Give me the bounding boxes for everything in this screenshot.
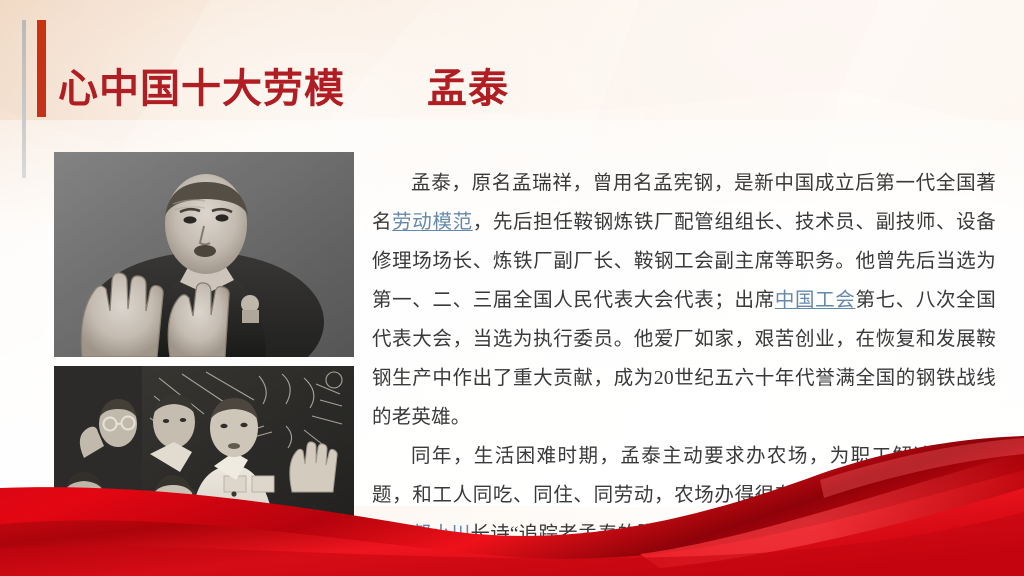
link-labor-model[interactable]: 劳动模范 [392, 212, 473, 233]
meng-tai-teaching-photo [54, 366, 354, 552]
link-china-trade-union[interactable]: 中国工会 [775, 290, 856, 311]
presentation-slide: 心中国十大劳模 孟泰 [0, 0, 1024, 576]
paragraph-one: 孟泰，原名孟瑞祥，曾用名孟宪钢，是新中国成立后第一代全国著名劳动模范，先后担任鞍… [372, 164, 996, 437]
paragraph-two: 同年，生活困难时期，孟泰主动要求办农场，为职工解决生活问题，和工人同吃、同住、同… [372, 437, 996, 554]
decorative-accent-bar [37, 20, 46, 117]
meng-tai-portrait-photo [54, 152, 354, 357]
paragraph2-segment-2: 长诗“追踪老孟泰的脚步”作了深情地描写。 [471, 524, 843, 545]
decorative-gray-bar [22, 20, 26, 178]
link-guo-xiaochuan[interactable]: 郭小川 [411, 524, 470, 545]
body-text-block: 孟泰，原名孟瑞祥，曾用名孟宪钢，是新中国成立后第一代全国著名劳动模范，先后担任鞍… [372, 164, 996, 554]
slide-title: 心中国十大劳模 孟泰 [58, 58, 618, 121]
